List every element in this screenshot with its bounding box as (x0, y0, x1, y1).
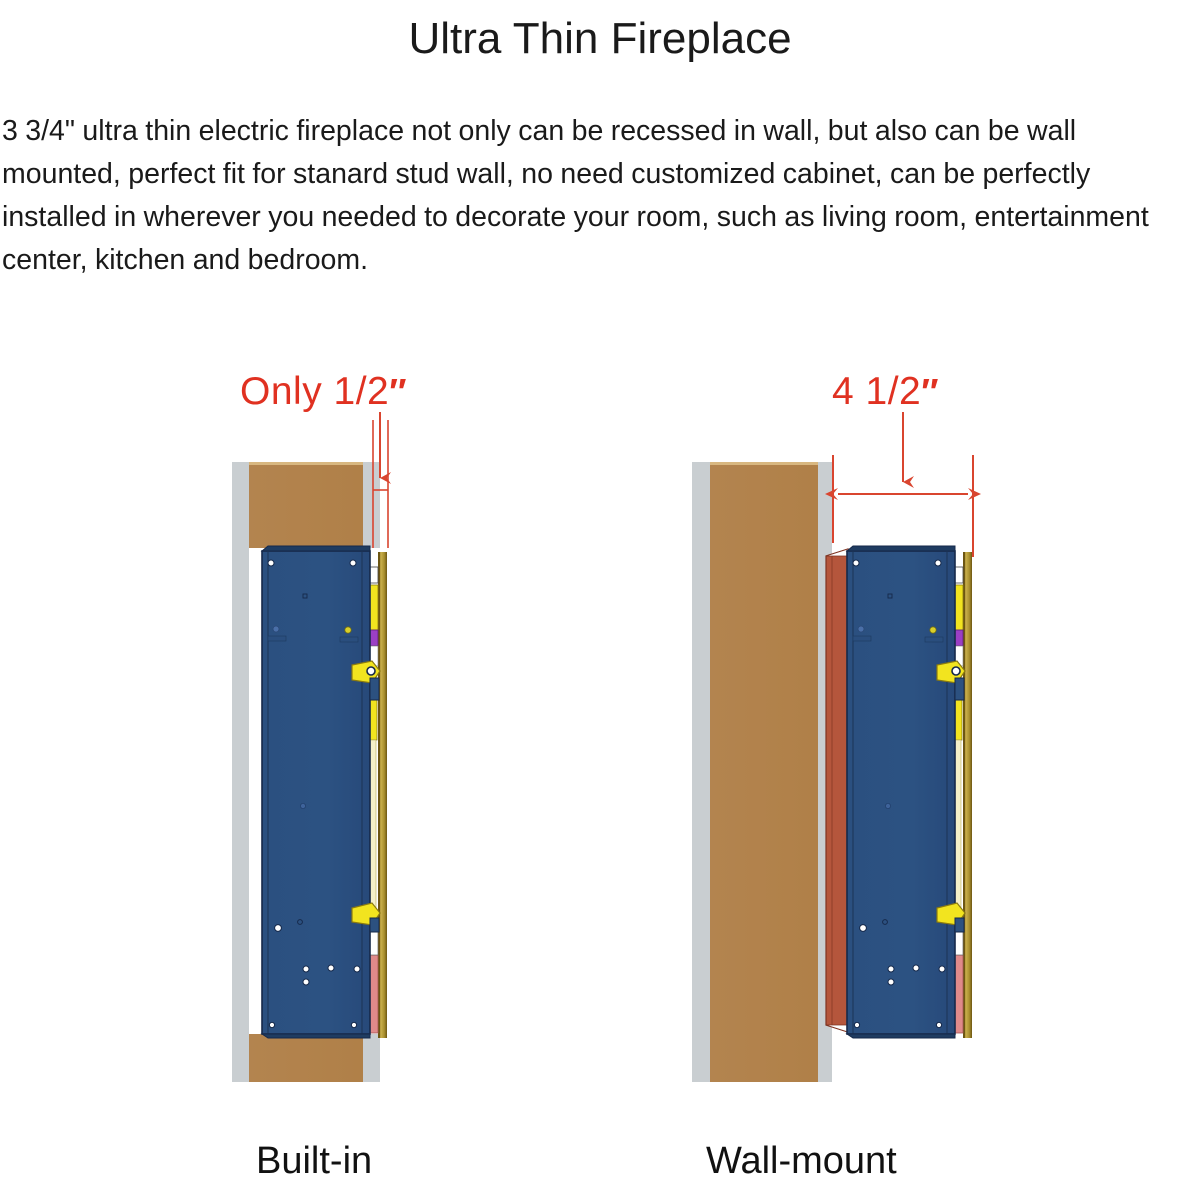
fireplace-unit-left (262, 546, 370, 1038)
dimension-value-wall-mount: 4 1/2 (832, 370, 921, 413)
caption-wall-mount: Wall-mount (706, 1140, 897, 1183)
trim-rod-right (963, 552, 972, 1038)
fireplace-unit-right (847, 546, 955, 1038)
dimension-annotation-wall-mount (833, 412, 973, 557)
dimension-label-wall-mount: 4 1/2″ (832, 370, 938, 414)
installation-diagram (0, 0, 1200, 1200)
wall-assembly-right (692, 462, 832, 1082)
diagram-built-in (232, 412, 388, 1082)
product-infographic: Ultra Thin Fireplace 3 3/4" ultra thin e… (0, 0, 1200, 1200)
mounting-bracket-right (826, 549, 848, 1032)
inch-mark-wall-mount: ″ (921, 371, 937, 412)
dimension-value-built-in: Only 1/2 (240, 370, 389, 413)
diagram-wall-mount (692, 412, 973, 1082)
trim-rod-left (378, 552, 387, 1038)
caption-built-in: Built-in (256, 1140, 372, 1183)
inch-mark-built-in: ″ (389, 371, 405, 412)
dimension-label-built-in: Only 1/2″ (240, 370, 406, 414)
